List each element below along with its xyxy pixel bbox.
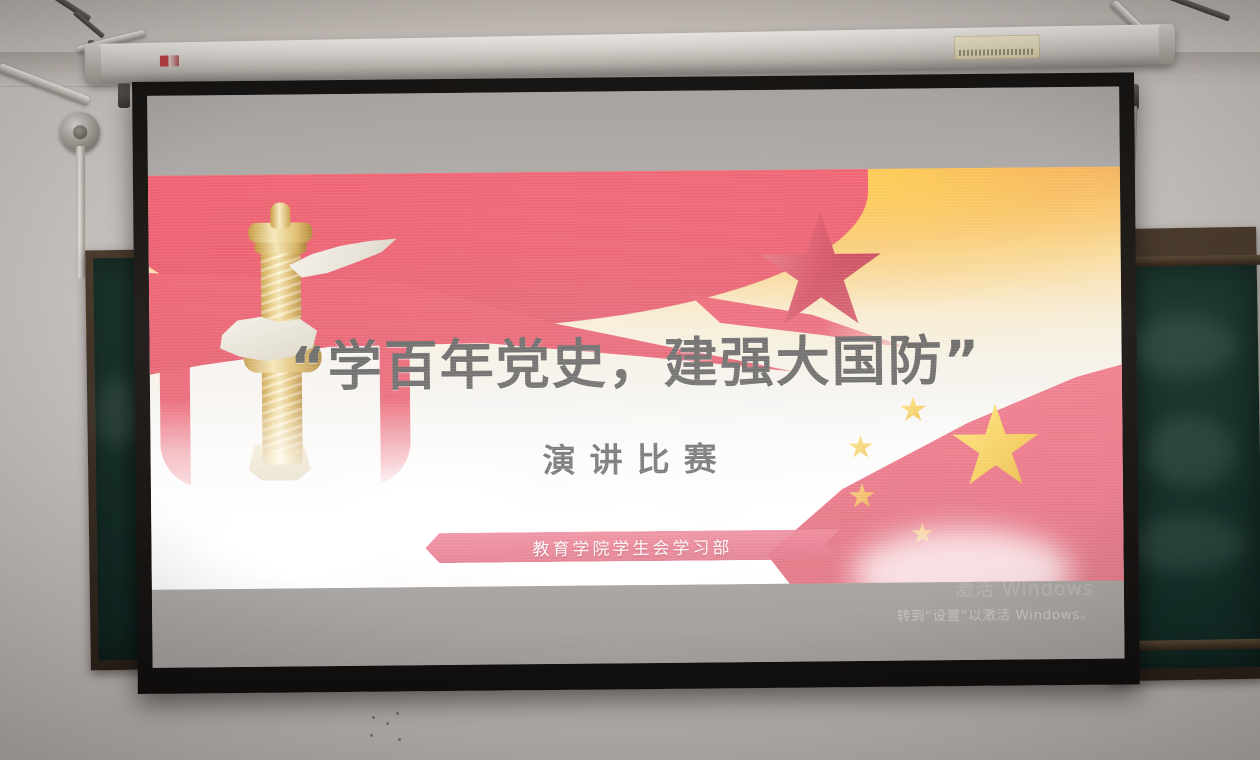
classroom-scene: “学百年党史，建强大国防” 演讲比赛 教育学院学生会学习部 激活 Windows… [0,0,1260,760]
wall-support-pole-left [76,146,85,278]
wall-mark [372,716,375,719]
wall-mark [370,734,373,737]
chalk-smudge [1125,515,1246,573]
wall-mark [396,712,399,715]
wall-mark [386,722,389,725]
windows-activation-title: 激活 Windows [844,574,1094,603]
housing-spec-label [954,35,1040,61]
housing-end-cap-left [85,44,102,84]
ceiling-mount-clamp [118,82,130,108]
slide-ribbon-banner: 教育学院学生会学习部 [425,529,839,563]
housing-end-cap-right [1158,24,1175,64]
housing-brand-logo-icon [160,55,179,66]
slide-title: “学百年党史，建强大国防” [149,315,1122,403]
projector-screen-frame: “学百年党史，建强大国防” 演讲比赛 教育学院学生会学习部 激活 Windows… [132,72,1140,694]
projector-screen-surface: “学百年党史，建强大国防” 演讲比赛 教育学院学生会学习部 激活 Windows… [147,87,1124,668]
huabiao-finial [270,202,290,228]
projected-slide: “学百年党史，建强大国防” 演讲比赛 教育学院学生会学习部 [148,167,1124,590]
chalk-smudge [97,378,138,449]
windows-activation-subtitle: 转到“设置”以激活 Windows。 [844,603,1094,625]
chalk-smudge [1127,315,1238,377]
screen-blank-top [147,87,1120,176]
chalk-smudge [1145,415,1236,487]
slide-ribbon-text: 教育学院学生会学习部 [532,533,732,560]
wall-mark [398,738,401,741]
slide-subtitle: 演讲比赛 [150,429,1122,486]
